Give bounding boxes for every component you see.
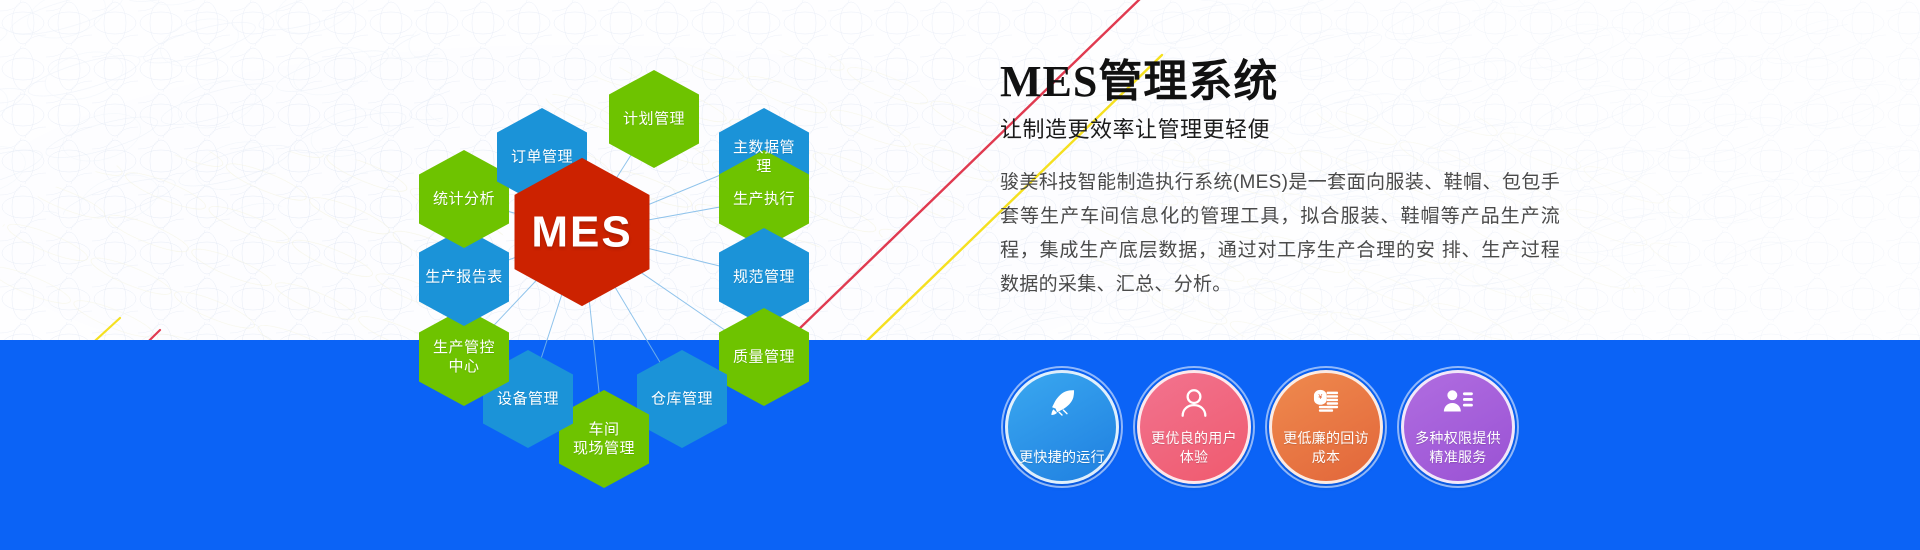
hexagon-node[interactable]	[719, 308, 809, 406]
user-icon	[1177, 386, 1211, 420]
rocket-icon	[1045, 386, 1079, 420]
hexagon-node[interactable]	[637, 350, 727, 448]
bottom-blue-band	[0, 340, 1920, 550]
permissions-icon	[1441, 386, 1475, 420]
coins-icon: ¥	[1309, 386, 1343, 420]
hexagon-node[interactable]	[419, 150, 509, 248]
hexagon-node[interactable]	[609, 70, 699, 168]
feature-badges: 更快捷的运行 更优良的用户 体验	[1005, 370, 1515, 484]
mes-banner: 计划管理主数据管理生产执行规范管理质量管理仓库管理车间 现场管理设备管理生产管控…	[0, 0, 1920, 550]
hexagon-nodes-svg	[390, 10, 830, 510]
page-subtitle: 让制造更效率让管理更轻便	[1000, 112, 1560, 144]
badge-ring	[1133, 366, 1255, 488]
badge-lower-revisit-cost[interactable]: ¥ 更低廉的回访 成本	[1269, 370, 1383, 484]
badge-ring	[1397, 366, 1519, 488]
description-paragraph: 骏美科技智能制造执行系统(MES)是一套面向服装、鞋帽、包包手套等生产车间信息化…	[1000, 166, 1560, 302]
page-title: MES管理系统	[1000, 58, 1560, 106]
badge-ring	[1001, 366, 1123, 488]
badge-faster-operation[interactable]: 更快捷的运行	[1005, 370, 1119, 484]
badge-ring	[1265, 366, 1387, 488]
copy-block: MES管理系统 让制造更效率让管理更轻便 骏美科技智能制造执行系统(MES)是一…	[1000, 58, 1560, 302]
svg-text:¥: ¥	[1318, 393, 1322, 401]
badge-better-user-experience[interactable]: 更优良的用户 体验	[1137, 370, 1251, 484]
badge-multiple-permissions[interactable]: 多种权限提供 精准服务	[1401, 370, 1515, 484]
mes-hexagon-diagram: 计划管理主数据管理生产执行规范管理质量管理仓库管理车间 现场管理设备管理生产管控…	[390, 10, 830, 510]
